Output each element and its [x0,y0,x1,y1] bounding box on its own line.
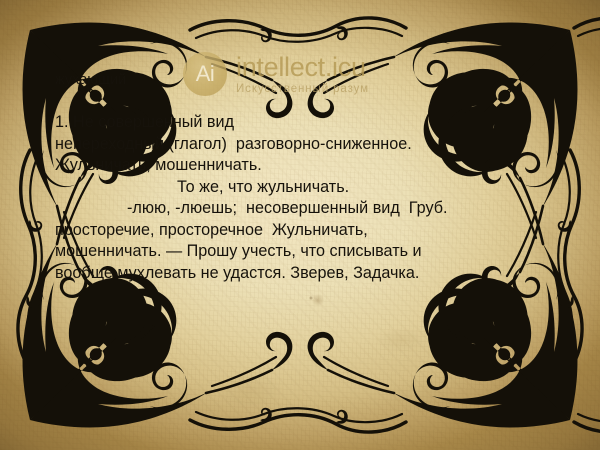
definition-line: То же, что жульничать. [55,177,525,199]
definition-line: непереходный (глагол) разговорно-сниженн… [55,134,525,156]
definition-line: Жульничать, мошенничать. [55,155,525,177]
parchment-card: Ai intellect.icu Искусственный разум жух… [0,0,600,450]
entry-definition-body: 1. Не совершенный вид непереходный (глаг… [55,112,525,284]
definition-line: вообще мухлевать не удастся. Зверев, Зад… [55,263,525,285]
definition-line: мошенничать. — Прошу учесть, что списыва… [55,241,525,263]
definition-line: просторечие, просторечное Жульничать, [55,220,525,242]
entry-headword: жухающий [55,72,126,89]
definition-line: 1. Не совершенный вид [55,112,525,134]
definition-line: -люю, -люешь; несовершенный вид Груб. [55,198,525,220]
